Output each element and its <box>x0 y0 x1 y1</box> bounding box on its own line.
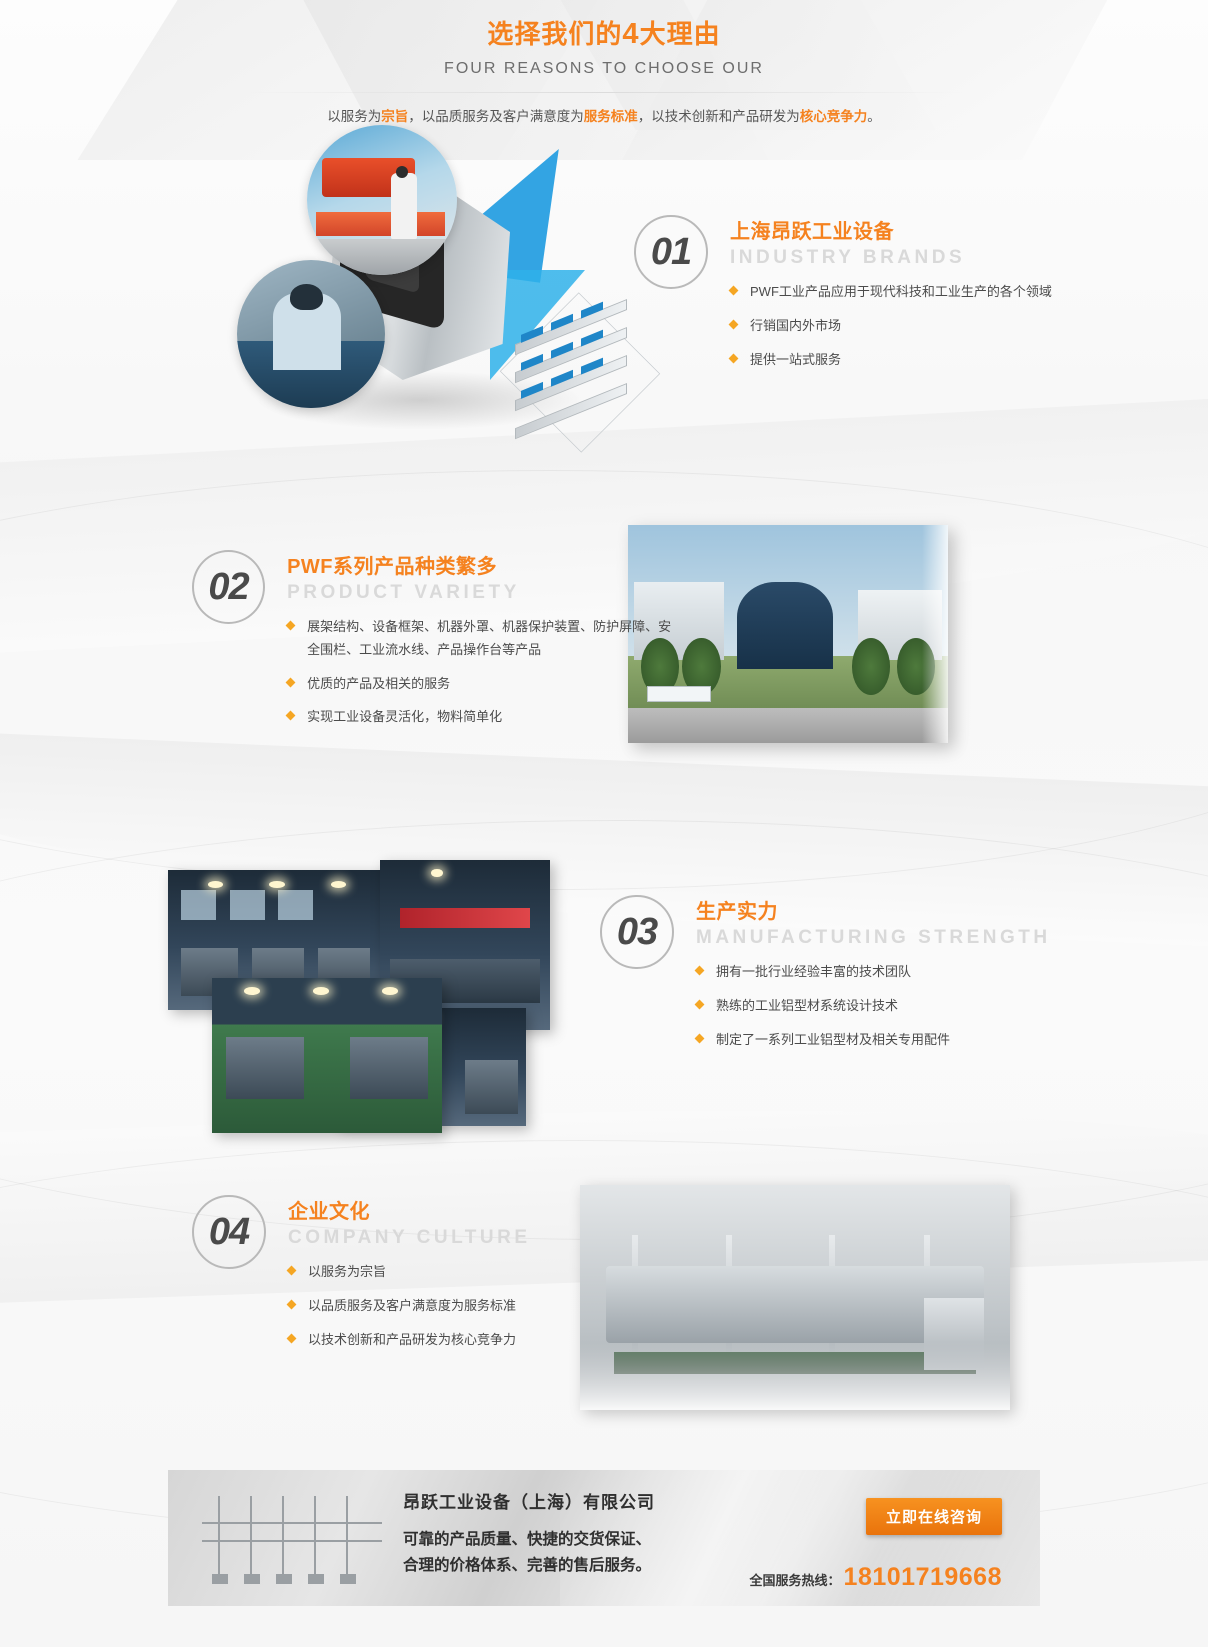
list-item-label: 行销国内外市场 <box>750 318 841 333</box>
header-desc-highlight-2: 服务标准 <box>584 109 638 124</box>
footer-slogan: 可靠的产品质量、快捷的交货保证、 合理的价格体系、完善的售后服务。 <box>403 1527 733 1580</box>
list-item-label: 熟练的工业铝型材系统设计技术 <box>716 998 898 1013</box>
photo-factory-entrance <box>628 525 948 743</box>
list-item: 拥有一批行业经验丰富的技术团队 <box>696 961 1051 984</box>
header-desc-part-1: 以服务为 <box>327 109 381 124</box>
diamond-bullet-icon <box>695 966 705 976</box>
page-title: 选择我们的4大理由 <box>0 14 1208 51</box>
section-03-subtitle: MANUFACTURING STRENGTH <box>696 927 1051 949</box>
footer-slogan-line-1: 可靠的产品质量、快捷的交货保证、 <box>403 1527 733 1553</box>
section-01: 01 上海昂跃工业设备 INDUSTRY BRANDS PWF工业产品应用于现代… <box>634 215 1104 382</box>
list-item: 实现工业设备灵活化，物料简单化 <box>287 706 672 729</box>
diamond-bullet-icon <box>286 711 296 721</box>
list-item-label: 优质的产品及相关的服务 <box>307 676 450 691</box>
section-04-number-badge: 04 <box>192 1195 266 1269</box>
online-consult-button[interactable]: 立即在线咨询 <box>866 1498 1002 1535</box>
diamond-bullet-icon <box>287 1266 297 1276</box>
list-item: 行销国内外市场 <box>730 315 1052 338</box>
photo-production-hall <box>212 978 442 1133</box>
list-item: 熟练的工业铝型材系统设计技术 <box>696 995 1051 1018</box>
list-item: 制定了一系列工业铝型材及相关专用配件 <box>696 1029 1051 1052</box>
photo-assembly-worker <box>237 260 385 408</box>
list-item-label: 展架结构、设备框架、机器外罩、机器保护装置、防护屏障、安全围栏、工业流水线、产品… <box>307 619 671 657</box>
section-03-title: 生产实力 <box>696 895 1051 924</box>
diamond-bullet-icon <box>287 1299 297 1309</box>
section-03-number-badge: 03 <box>600 895 674 969</box>
hotline-block: 全国服务热线： 18101719668 <box>750 1563 1002 1592</box>
list-item-label: 实现工业设备灵活化，物料简单化 <box>307 709 502 724</box>
section-02-title: PWF系列产品种类繁多 <box>287 550 672 579</box>
diamond-bullet-icon <box>729 353 739 363</box>
header-desc-highlight-1: 宗旨 <box>381 109 408 124</box>
diamond-bullet-icon <box>286 677 296 687</box>
list-item-label: 以品质服务及客户满意度为服务标准 <box>308 1298 516 1313</box>
section-02-bullet-list: 展架结构、设备框架、机器外罩、机器保护装置、防护屏障、安全围栏、工业流水线、产品… <box>287 616 672 729</box>
list-item-label: 拥有一批行业经验丰富的技术团队 <box>716 964 911 979</box>
header-desc-part-4: 。 <box>867 109 881 124</box>
section-02: 02 PWF系列产品种类繁多 PRODUCT VARIETY 展架结构、设备框架… <box>192 550 672 740</box>
header-desc-part-2: ，以品质服务及客户满意度为 <box>408 109 584 124</box>
section-04-title: 企业文化 <box>288 1195 531 1224</box>
list-item-label: 制定了一系列工业铝型材及相关专用配件 <box>716 1032 950 1047</box>
hotline-number: 18101719668 <box>844 1563 1002 1592</box>
list-item: PWF工业产品应用于现代科技和工业生产的各个领域 <box>730 281 1052 304</box>
footer-bar: 昂跃工业设备（上海）有限公司 可靠的产品质量、快捷的交货保证、 合理的价格体系、… <box>168 1470 1040 1606</box>
list-item: 优质的产品及相关的服务 <box>287 673 672 696</box>
diamond-bullet-icon <box>287 1333 297 1343</box>
header-desc-highlight-3: 核心竞争力 <box>800 109 868 124</box>
list-item: 以品质服务及客户满意度为服务标准 <box>288 1295 531 1318</box>
section-03-image-collage <box>168 860 588 1140</box>
header-desc-part-3: ，以技术创新和产品研发为 <box>638 109 800 124</box>
section-01-bullet-list: PWF工业产品应用于现代科技和工业生产的各个领域 行销国内外市场 提供一站式服务 <box>730 281 1052 371</box>
diamond-bullet-icon <box>286 621 296 631</box>
section-01-title: 上海昂跃工业设备 <box>730 215 1052 244</box>
diamond-bullet-icon <box>695 1033 705 1043</box>
section-04: 04 企业文化 COMPANY CULTURE 以服务为宗旨 以品质服务及客户满… <box>192 1195 662 1362</box>
page-title-suffix: 大理由 <box>640 19 721 49</box>
header-divider <box>244 92 964 93</box>
promo-page: 选择我们的4大理由 FOUR REASONS TO CHOOSE OUR 以服务… <box>0 0 1208 1647</box>
list-item: 以技术创新和产品研发为核心竞争力 <box>288 1329 531 1352</box>
blueprint-drawing-graphic <box>188 1478 398 1598</box>
section-04-bullet-list: 以服务为宗旨 以品质服务及客户满意度为服务标准 以技术创新和产品研发为核心竞争力 <box>288 1261 531 1351</box>
footer-text-block: 昂跃工业设备（上海）有限公司 可靠的产品质量、快捷的交货保证、 合理的价格体系、… <box>403 1488 733 1580</box>
page-subtitle: FOUR REASONS TO CHOOSE OUR <box>0 60 1208 78</box>
section-02-subtitle: PRODUCT VARIETY <box>287 582 672 604</box>
footer-company-name: 昂跃工业设备（上海）有限公司 <box>403 1488 733 1513</box>
section-01-subtitle: INDUSTRY BRANDS <box>730 247 1052 269</box>
header-description: 以服务为宗旨，以品质服务及客户满意度为服务标准，以技术创新和产品研发为核心竞争力… <box>0 105 1208 125</box>
list-item-label: 提供一站式服务 <box>750 352 841 367</box>
section-02-number-badge: 02 <box>192 550 265 624</box>
list-item: 展架结构、设备框架、机器外罩、机器保护装置、防护屏障、安全围栏、工业流水线、产品… <box>287 616 672 662</box>
section-03-bullet-list: 拥有一批行业经验丰富的技术团队 熟练的工业铝型材系统设计技术 制定了一系列工业铝… <box>696 961 1051 1051</box>
section-04-subtitle: COMPANY CULTURE <box>288 1227 531 1249</box>
hotline-label: 全国服务热线： <box>750 1570 841 1589</box>
list-item-label: 以技术创新和产品研发为核心竞争力 <box>308 1332 516 1347</box>
page-header: 选择我们的4大理由 FOUR REASONS TO CHOOSE OUR 以服务… <box>0 0 1208 125</box>
section-01-number-badge: 01 <box>634 215 708 289</box>
diamond-bullet-icon <box>695 999 705 1009</box>
diamond-bullet-icon <box>729 319 739 329</box>
footer-slogan-line-2: 合理的价格体系、完善的售后服务。 <box>403 1553 733 1579</box>
list-item-label: 以服务为宗旨 <box>308 1264 386 1279</box>
section-01-image-collage <box>215 120 615 450</box>
section-03: 03 生产实力 MANUFACTURING STRENGTH 拥有一批行业经验丰… <box>600 895 1070 1062</box>
photo-production-line <box>307 125 457 275</box>
list-item: 以服务为宗旨 <box>288 1261 531 1284</box>
page-title-number: 4 <box>622 18 639 50</box>
list-item: 提供一站式服务 <box>730 349 1052 372</box>
diamond-bullet-icon <box>729 286 739 296</box>
page-title-prefix: 选择我们的 <box>487 19 622 49</box>
list-item-label: PWF工业产品应用于现代科技和工业生产的各个领域 <box>750 284 1052 299</box>
